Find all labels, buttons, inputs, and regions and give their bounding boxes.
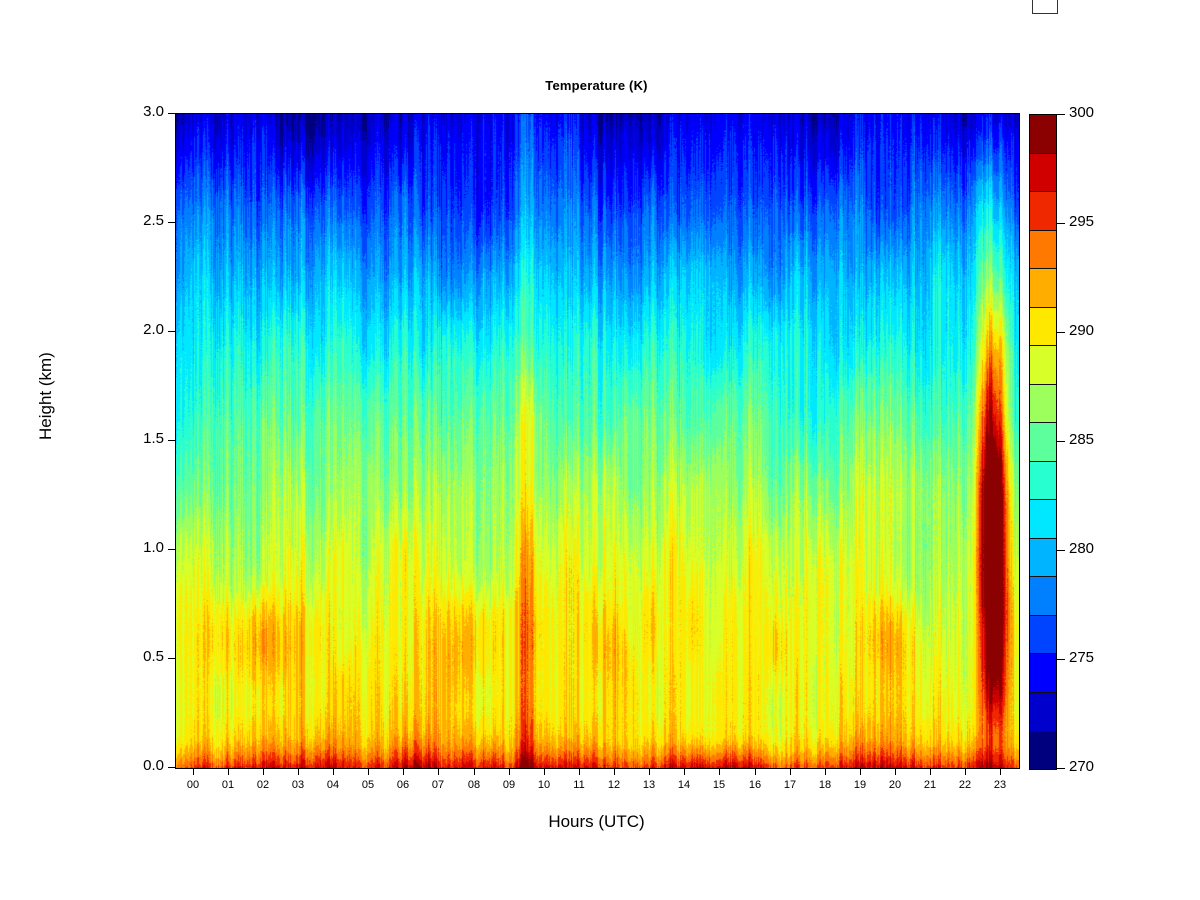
- x-tick-label: 01: [214, 779, 242, 791]
- x-tick-mark: [1000, 768, 1001, 775]
- x-tick-label: 07: [424, 779, 452, 791]
- x-tick-mark: [474, 768, 475, 775]
- x-tick-label: 11: [565, 779, 593, 791]
- x-tick-label: 09: [495, 779, 523, 791]
- x-axis-label: Hours (UTC): [175, 812, 1018, 832]
- heatmap-plot-area: [175, 113, 1020, 769]
- x-tick-label: 21: [916, 779, 944, 791]
- colorbar-band: [1030, 346, 1056, 385]
- y-tick-mark: [168, 767, 175, 768]
- x-tick-mark: [965, 768, 966, 775]
- x-tick-mark: [544, 768, 545, 775]
- colorbar-tick-label: 280: [1069, 540, 1094, 557]
- x-tick-mark: [719, 768, 720, 775]
- x-tick-mark: [579, 768, 580, 775]
- y-tick-label: 2.5: [143, 212, 164, 229]
- colorbar-tick-label: 290: [1069, 322, 1094, 339]
- x-tick-mark: [263, 768, 264, 775]
- colorbar-band: [1030, 500, 1056, 539]
- colorbar-tick-label: 285: [1069, 431, 1094, 448]
- colorbar-tick-mark: [1057, 659, 1065, 660]
- x-tick-mark: [860, 768, 861, 775]
- x-tick-label: 17: [776, 779, 804, 791]
- temperature-heatmap: [176, 114, 1019, 768]
- x-tick-mark: [930, 768, 931, 775]
- colorbar: [1029, 114, 1057, 770]
- x-tick-mark: [649, 768, 650, 775]
- x-tick-label: 20: [881, 779, 909, 791]
- x-tick-mark: [403, 768, 404, 775]
- x-tick-label: 18: [811, 779, 839, 791]
- colorbar-tick-mark: [1057, 332, 1065, 333]
- colorbar-band: [1030, 423, 1056, 462]
- colorbar-band: [1030, 539, 1056, 578]
- y-tick-label: 0.0: [143, 757, 164, 774]
- temperature-time-height-figure: Temperature (K) Height (km) Hours (UTC) …: [0, 0, 1200, 900]
- x-tick-label: 23: [986, 779, 1014, 791]
- colorbar-tick-label: 295: [1069, 213, 1094, 230]
- colorbar-tick-label: 270: [1069, 758, 1094, 775]
- colorbar-band: [1030, 616, 1056, 655]
- x-tick-label: 00: [179, 779, 207, 791]
- y-tick-mark: [168, 222, 175, 223]
- y-tick-mark: [168, 113, 175, 114]
- x-tick-mark: [333, 768, 334, 775]
- x-tick-mark: [509, 768, 510, 775]
- colorbar-band: [1030, 154, 1056, 193]
- colorbar-tick-mark: [1057, 441, 1065, 442]
- colorbar-tick-mark: [1057, 114, 1065, 115]
- x-tick-label: 13: [635, 779, 663, 791]
- colorbar-band: [1030, 654, 1056, 693]
- colorbar-band: [1030, 577, 1056, 616]
- colorbar-band: [1030, 269, 1056, 308]
- colorbar-tick-mark: [1057, 550, 1065, 551]
- colorbar-tick-label: 300: [1069, 104, 1094, 121]
- x-tick-mark: [298, 768, 299, 775]
- x-tick-label: 14: [670, 779, 698, 791]
- colorbar-band: [1030, 192, 1056, 231]
- x-tick-label: 12: [600, 779, 628, 791]
- y-tick-label: 1.5: [143, 430, 164, 447]
- x-tick-mark: [614, 768, 615, 775]
- y-tick-label: 1.0: [143, 539, 164, 556]
- x-tick-mark: [790, 768, 791, 775]
- x-tick-label: 03: [284, 779, 312, 791]
- x-tick-mark: [895, 768, 896, 775]
- x-tick-mark: [368, 768, 369, 775]
- x-tick-label: 16: [741, 779, 769, 791]
- x-tick-label: 08: [460, 779, 488, 791]
- y-tick-label: 3.0: [143, 103, 164, 120]
- x-tick-label: 15: [705, 779, 733, 791]
- colorbar-tick-mark: [1057, 223, 1065, 224]
- colorbar-tick-label: 275: [1069, 649, 1094, 666]
- y-tick-mark: [168, 658, 175, 659]
- x-tick-label: 22: [951, 779, 979, 791]
- x-tick-label: 05: [354, 779, 382, 791]
- x-tick-label: 10: [530, 779, 558, 791]
- x-tick-mark: [193, 768, 194, 775]
- y-tick-mark: [168, 331, 175, 332]
- colorbar-tick-mark: [1057, 768, 1065, 769]
- x-tick-label: 19: [846, 779, 874, 791]
- x-tick-mark: [438, 768, 439, 775]
- x-tick-label: 02: [249, 779, 277, 791]
- y-tick-label: 2.0: [143, 321, 164, 338]
- colorbar-band: [1030, 732, 1056, 770]
- y-tick-mark: [168, 549, 175, 550]
- x-tick-mark: [755, 768, 756, 775]
- x-tick-mark: [825, 768, 826, 775]
- colorbar-band: [1030, 308, 1056, 347]
- colorbar-band: [1030, 693, 1056, 732]
- colorbar-band: [1030, 385, 1056, 424]
- x-tick-label: 04: [319, 779, 347, 791]
- colorbar-band: [1030, 115, 1056, 154]
- figure-corner-mark: [1032, 0, 1058, 14]
- x-tick-mark: [228, 768, 229, 775]
- colorbar-band: [1030, 231, 1056, 270]
- page-title: Temperature (K): [175, 78, 1018, 93]
- x-tick-label: 06: [389, 779, 417, 791]
- y-tick-mark: [168, 440, 175, 441]
- colorbar-band: [1030, 462, 1056, 501]
- y-tick-label: 0.5: [143, 648, 164, 665]
- x-tick-mark: [684, 768, 685, 775]
